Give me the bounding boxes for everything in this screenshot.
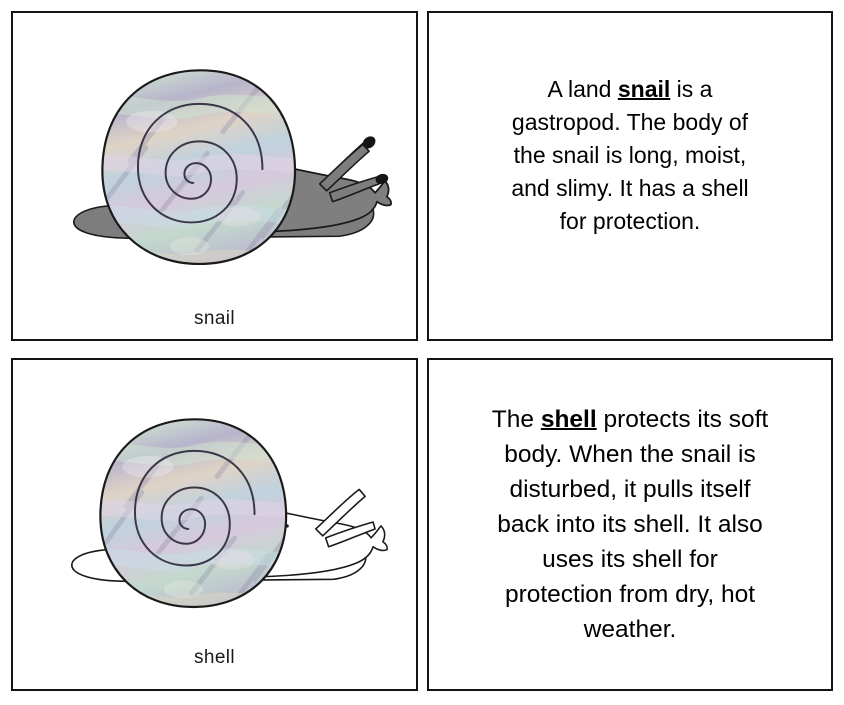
text-run: protects its soft: [597, 406, 769, 433]
snail-shell: [83, 53, 320, 280]
snail-tentacle-lower-tip: [374, 172, 389, 185]
snail-full-color-illustration: [13, 13, 416, 339]
text-line: uses its shell for: [492, 542, 768, 577]
text-line: weather.: [492, 612, 768, 647]
snail-shell: [83, 403, 310, 624]
text-line: for protection.: [511, 205, 748, 238]
shell-description: The shell protects its soft body. When t…: [492, 402, 768, 647]
text-line: disturbed, it pulls itself: [492, 472, 768, 507]
text-line: back into its shell. It also: [492, 507, 768, 542]
snail-tentacle-lower: [330, 177, 379, 202]
picture-card-label: snail: [13, 308, 416, 330]
text-card-snail[interactable]: A land snail is a gastropod. The body of…: [427, 11, 833, 341]
text-card-shell[interactable]: The shell protects its soft body. When t…: [427, 358, 833, 691]
picture-card-snail-inner: snail: [13, 13, 416, 339]
snail-shell-spiral: [135, 451, 255, 566]
text-line: and slimy. It has a shell: [511, 172, 748, 205]
snail-tentacle-upper-outline: [326, 141, 366, 179]
snail-body: [147, 157, 391, 232]
snail-foot: [72, 547, 366, 582]
snail-tentacle-lower: [326, 522, 375, 547]
picture-card-shell-inner: shell: [13, 360, 416, 689]
text-run: A land: [548, 76, 618, 102]
cards-sheet: snail A land snail is a gastropod. The b…: [0, 0, 844, 705]
snail-tentacle-upper: [320, 144, 369, 190]
text-card-shell-body: The shell protects its soft body. When t…: [429, 360, 831, 689]
snail-pneumostome-pore: [203, 196, 217, 206]
picture-card-shell[interactable]: shell: [11, 358, 418, 691]
snail-shell-highlighted-illustration: [13, 360, 416, 689]
text-line: the snail is long, moist,: [511, 139, 748, 172]
snail-description: A land snail is a gastropod. The body of…: [511, 73, 748, 238]
keyword-shell: shell: [541, 406, 597, 433]
snail-body: [143, 502, 387, 577]
keyword-snail: snail: [618, 76, 670, 102]
text-line: The shell protects its soft: [492, 402, 768, 437]
text-card-snail-body: A land snail is a gastropod. The body of…: [429, 13, 831, 339]
text-line: protection from dry, hot: [492, 577, 768, 612]
text-line: gastropod. The body of: [511, 106, 748, 139]
picture-card-label: shell: [13, 647, 416, 669]
snail-mantle-dots: [183, 169, 295, 211]
text-run: The: [492, 406, 541, 433]
snail-pneumostome-pore: [200, 541, 214, 551]
snail-shell-spiral: [138, 104, 262, 223]
picture-card-snail[interactable]: snail: [11, 11, 418, 341]
snail-tentacle-upper-tip: [360, 134, 378, 151]
snail-foot: [74, 203, 374, 239]
text-line: A land snail is a: [511, 73, 748, 106]
text-run: is a: [670, 76, 712, 102]
snail-mantle-dots: [180, 514, 289, 556]
snail-tentacle-upper: [316, 489, 365, 535]
text-line: body. When the snail is: [492, 437, 768, 472]
